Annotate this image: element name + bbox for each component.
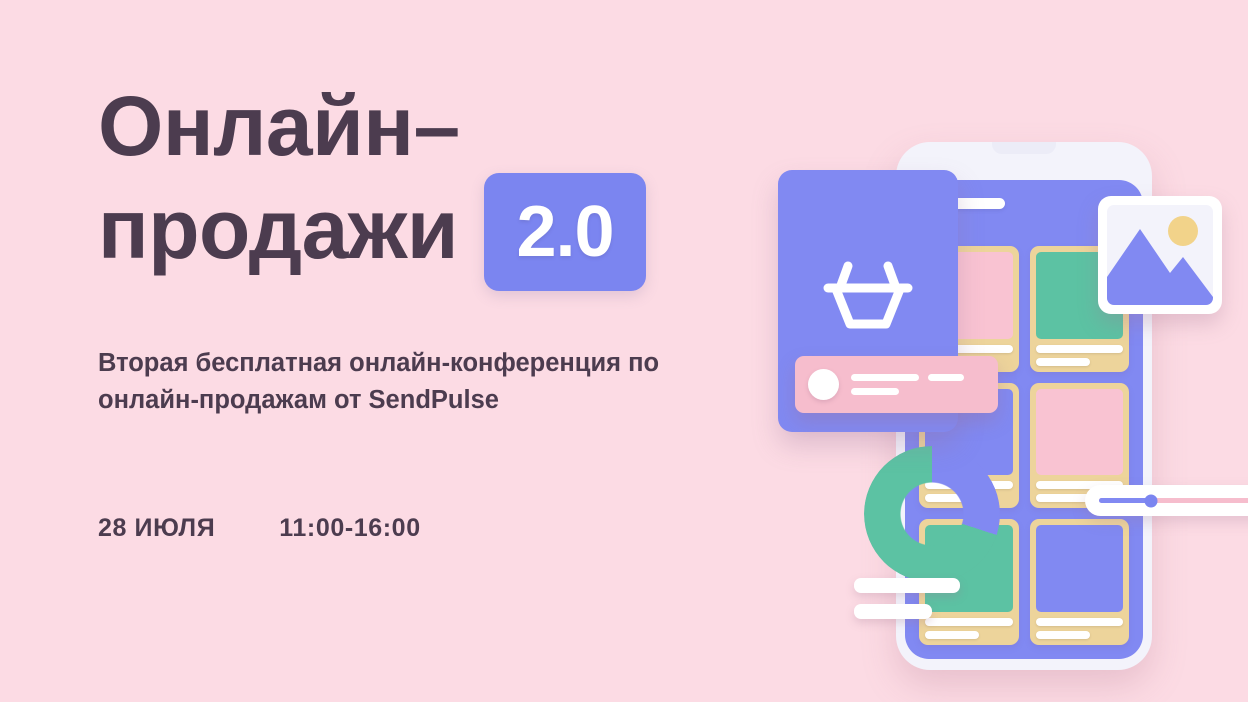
product-thumbnail [1036, 389, 1124, 476]
product-title-line [1036, 618, 1124, 626]
headline-line-1: Онлайн– [98, 86, 758, 167]
hero-text-block: Онлайн– продажи 2.0 Вторая бесплатная он… [98, 86, 758, 543]
hero-illustration [740, 0, 1248, 702]
poster-canvas: Онлайн– продажи 2.0 Вторая бесплатная он… [0, 0, 1248, 702]
product-subtitle-line [925, 631, 979, 639]
event-date: 28 ИЮЛЯ [98, 514, 215, 543]
event-meta-row: 28 ИЮЛЯ 11:00-16:00 [98, 514, 758, 543]
image-placeholder-icon [1107, 205, 1213, 305]
product-subtitle-line [1036, 631, 1090, 639]
notification-card [795, 356, 998, 413]
shopping-basket-icon [820, 256, 916, 334]
slider-control[interactable] [1085, 485, 1248, 516]
subtitle-text: Вторая бесплатная онлайн-конференция по … [98, 345, 678, 417]
slider-knob[interactable] [1144, 494, 1157, 507]
notification-text-lines [851, 374, 985, 395]
avatar [808, 369, 839, 400]
mountain-shape [1107, 229, 1213, 305]
notification-line-row [851, 374, 985, 381]
event-time: 11:00-16:00 [279, 514, 420, 543]
sun-icon [1168, 216, 1198, 246]
product-title-line [925, 618, 1013, 626]
notification-line [928, 374, 964, 381]
version-badge: 2.0 [484, 173, 646, 291]
image-preview-inner [1107, 205, 1213, 305]
product-thumbnail [1036, 525, 1124, 612]
product-subtitle-line [1036, 494, 1090, 502]
text-bar-primary [854, 578, 960, 593]
slider-track[interactable] [1099, 498, 1248, 503]
headline-line-2: продажи [98, 187, 458, 271]
product-card[interactable] [1030, 519, 1130, 645]
text-bar-secondary [854, 604, 932, 619]
phone-notch [992, 142, 1056, 154]
notification-line [851, 374, 919, 381]
donut-chart [864, 446, 1000, 582]
slider-fill [1099, 498, 1151, 503]
notification-line [851, 388, 899, 395]
headline-row-2: продажи 2.0 [98, 167, 758, 291]
product-title-line [1036, 345, 1124, 353]
image-preview-card [1098, 196, 1222, 314]
product-subtitle-line [1036, 358, 1090, 366]
